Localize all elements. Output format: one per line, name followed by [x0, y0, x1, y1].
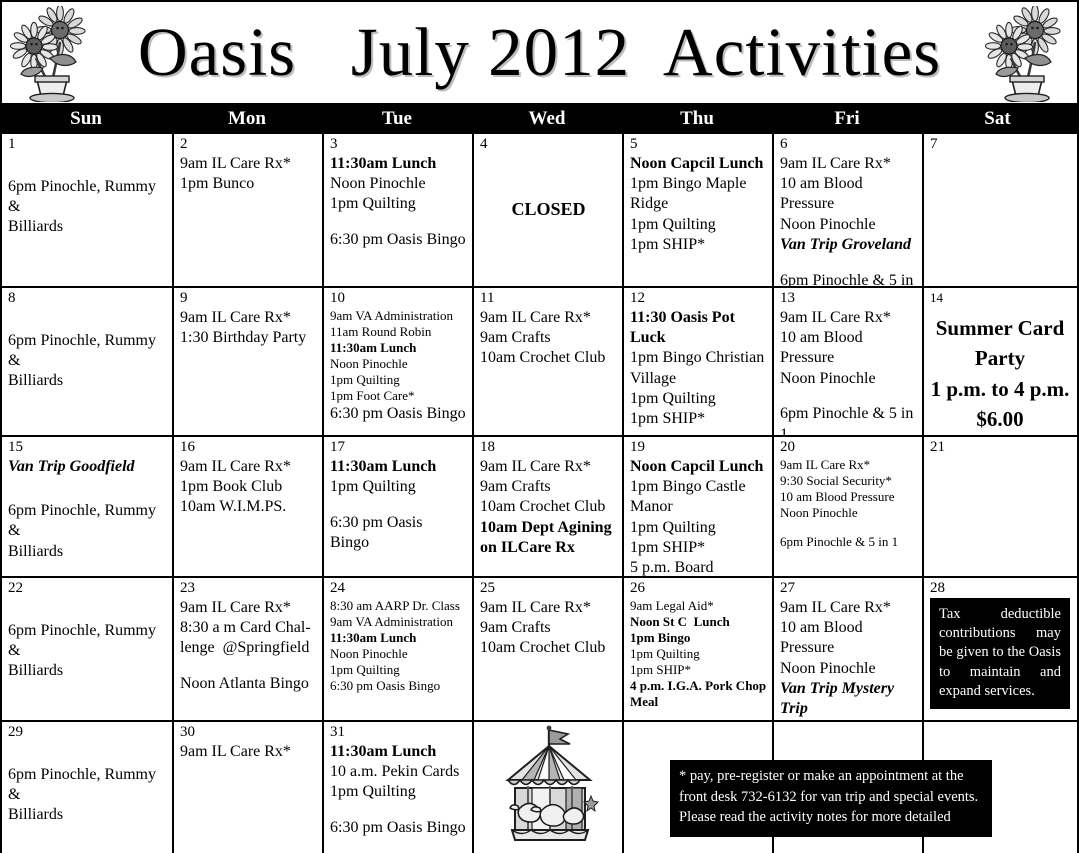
calendar-day-cell-31[interactable]: 3111:30am Lunch10 a.m. Pekin Cards1pm Qu…: [324, 722, 474, 853]
event-item[interactable]: 9am IL Care Rx*: [780, 154, 917, 174]
event-item[interactable]: 9am Crafts: [480, 618, 617, 638]
event-item[interactable]: 6:30 pm Oasis Bingo: [330, 818, 467, 838]
weekday-header-wed: Wed: [472, 103, 622, 134]
event-item[interactable]: 11:30am Lunch: [330, 154, 467, 174]
day-events-list: 9am IL Care Rx*10 am Blood PressureNoon …: [780, 154, 917, 286]
day-number: 8: [8, 291, 167, 307]
day-events-list: 6pm Pinochle, Rummy &Billiards: [8, 621, 167, 682]
day-number: 9: [180, 291, 317, 307]
calendar-day-cell-5[interactable]: 5Noon Capcil Lunch1pm Bingo MapleRidge1p…: [624, 134, 774, 286]
event-item[interactable]: Noon St C Lunch: [630, 614, 767, 630]
weekday-header-sat: Sat: [922, 103, 1073, 134]
event-item[interactable]: 9am IL Care Rx*: [480, 457, 617, 477]
event-item[interactable]: Meal: [630, 694, 767, 710]
calendar-day-cell-19[interactable]: 19Noon Capcil Lunch1pm Bingo CastleManor…: [624, 437, 774, 576]
event-item[interactable]: 6pm Pinochle & 5 in 1: [780, 534, 917, 550]
day-number: 29: [8, 725, 167, 741]
day-number: 24: [330, 581, 467, 597]
event-item[interactable]: 9am IL Care Rx*: [180, 457, 317, 477]
calendar-day-cell-11[interactable]: 119am IL Care Rx*9am Crafts10am Crochet …: [474, 288, 624, 435]
event-item[interactable]: 5 p.m. Board Meeting: [630, 558, 767, 576]
weekday-header-thu: Thu: [622, 103, 772, 134]
event-item[interactable]: Van Trip Mystery Trip: [780, 679, 917, 720]
event-item[interactable]: 11:30am Lunch: [330, 340, 467, 356]
day-number: 30: [180, 725, 317, 741]
day-number: 18: [480, 440, 617, 456]
event-item[interactable]: 6pm Pinochle & 5 in 1: [780, 271, 917, 287]
weekday-header-mon: Mon: [172, 103, 322, 134]
event-item[interactable]: 9am IL Care Rx*: [480, 598, 617, 618]
event-item[interactable]: 1pm Bingo: [630, 630, 767, 646]
day-events-list: 6pm Pinochle, Rummy &Billiards: [8, 331, 167, 392]
event-item[interactable]: 1pm SHIP*: [630, 538, 767, 558]
event-item[interactable]: Manor: [630, 497, 767, 517]
event-item[interactable]: Noon Pinochle: [780, 369, 917, 389]
calendar-day-cell-13[interactable]: 139am IL Care Rx*10 am Blood PressureNoo…: [774, 288, 924, 435]
weekday-header-row: SunMonTueWedThuFriSat: [0, 103, 1079, 134]
day-events-list: 9am IL Care Rx*1pm Bunco: [180, 154, 317, 195]
event-item[interactable]: Noon Pinochle: [780, 215, 917, 235]
event-item[interactable]: Noon Pinochle: [330, 356, 467, 372]
closed-label: CLOSED: [480, 199, 617, 220]
event-item[interactable]: 9am Crafts: [480, 328, 617, 348]
event-item[interactable]: 8:30 a m Card Chal-: [180, 618, 317, 638]
event-item[interactable]: 9am IL Care Rx*: [780, 598, 917, 618]
event-item[interactable]: Noon Pinochle: [330, 174, 467, 194]
event-item[interactable]: Van Trip Goodfield: [8, 457, 167, 477]
calendar-week-row: 16pm Pinochle, Rummy &Billiards29am IL C…: [2, 134, 1077, 288]
event-item[interactable]: 1pm Quilting: [330, 372, 467, 388]
calendar-day-cell-17[interactable]: 1711:30am Lunch1pm Quilting6:30 pm Oasis…: [324, 437, 474, 576]
event-item[interactable]: on ILCare Rx: [480, 538, 617, 558]
event-item[interactable]: 9am IL Care Rx*: [180, 742, 317, 762]
calendar-day-cell-12[interactable]: 1211:30 Oasis Pot Luck1pm Bingo Christia…: [624, 288, 774, 435]
event-item[interactable]: 1pm SHIP*: [630, 662, 767, 678]
calendar-day-cell-4[interactable]: 4CLOSED: [474, 134, 624, 286]
event-item[interactable]: 6pm Pinochle, Rummy &: [8, 331, 167, 372]
calendar-day-cell-23[interactable]: 239am IL Care Rx*8:30 a m Card Chal-leng…: [174, 578, 324, 720]
calendar-week-row: 15Van Trip Goodfield6pm Pinochle, Rummy …: [2, 437, 1077, 578]
weekday-header-sun: Sun: [0, 103, 172, 134]
event-item[interactable]: 6pm Pinochle, Rummy &: [8, 177, 167, 218]
event-item[interactable]: 1pm Quilting: [630, 389, 767, 409]
event-item[interactable]: 4 p.m. I.G.A. Pork Chop: [630, 678, 767, 694]
footnote-line-1: * pay, pre-register or make an appointme…: [679, 766, 983, 787]
day-events-list: 11:30am Lunch10 a.m. Pekin Cards1pm Quil…: [330, 742, 467, 838]
calendar-day-cell-28[interactable]: 28Tax deductible contributions may be gi…: [924, 578, 1075, 720]
event-item[interactable]: 6:30 pm Oasis Bingo: [330, 678, 467, 694]
calendar-day-cell-22[interactable]: 226pm Pinochle, Rummy &Billiards: [2, 578, 174, 720]
event-item[interactable]: 10am Crochet Club: [480, 638, 617, 658]
day-events-list: 9am Legal Aid*Noon St C Lunch1pm Bingo1p…: [630, 598, 767, 711]
day-number: 23: [180, 581, 317, 597]
day-number: 6: [780, 137, 917, 153]
day-events-list: 11:30 Oasis Pot Luck1pm Bingo ChristianV…: [630, 308, 767, 430]
event-item[interactable]: 1pm Quilting: [330, 782, 467, 802]
day-events-list: 6pm Pinochle, Rummy &Billiards: [8, 765, 167, 826]
calendar-day-cell-21[interactable]: 21: [924, 437, 1075, 576]
event-item[interactable]: Noon Capcil Lunch: [630, 457, 767, 477]
day-number: 26: [630, 581, 767, 597]
event-item[interactable]: 10am Crochet Club: [480, 348, 617, 368]
event-item[interactable]: 1pm Bingo Christian: [630, 348, 767, 368]
calendar-title-banner: Oasis July 2012 Activities: [0, 0, 1079, 103]
day-number: 1: [8, 137, 167, 153]
calendar-day-cell-empty[interactable]: [474, 722, 624, 853]
calendar-day-cell-18[interactable]: 189am IL Care Rx*9am Crafts10am Crochet …: [474, 437, 624, 576]
event-item[interactable]: 1pm Quilting: [630, 518, 767, 538]
event-item[interactable]: 10am Crochet Club: [480, 497, 617, 517]
special-event-line: $6.00: [930, 404, 1070, 434]
event-item[interactable]: Billiards: [8, 371, 167, 391]
day-events-list: 9am IL Care Rx*1:30 Birthday Party: [180, 308, 317, 349]
day-number: 15: [8, 440, 167, 456]
event-item[interactable]: Noon Capcil Lunch: [630, 154, 767, 174]
event-item[interactable]: 6:30 pm Oasis Bingo: [330, 230, 467, 250]
event-item[interactable]: Van Trip Groveland: [780, 235, 917, 255]
event-item[interactable]: 6pm Pinochle & 5 in 1: [780, 404, 917, 435]
day-events-list: 11:30am Lunch1pm Quilting6:30 pm OasisBi…: [330, 457, 467, 553]
special-event-line: 1 p.m. to 4 p.m.: [930, 374, 1070, 404]
event-item[interactable]: Billiards: [8, 805, 167, 825]
day-events-list: 9am IL Care Rx*9:30 Social Security*10 a…: [780, 457, 917, 550]
event-item[interactable]: 9am IL Care Rx*: [180, 598, 317, 618]
day-number: 11: [480, 291, 617, 307]
day-events-list: 8:30 am AARP Dr. Class9am VA Administrat…: [330, 598, 467, 695]
calendar-day-cell-7[interactable]: 7: [924, 134, 1075, 286]
day-events-list: 11:30am LunchNoon Pinochle1pm Quilting6:…: [330, 154, 467, 250]
event-item[interactable]: 1pm Bunco: [180, 174, 317, 194]
day-number: 3: [330, 137, 467, 153]
event-item[interactable]: 1:30 Birthday Party: [180, 328, 317, 348]
day-events-list: 6pm Pinochle, Rummy &Billiards: [8, 177, 167, 238]
calendar-day-cell-2[interactable]: 29am IL Care Rx*1pm Bunco: [174, 134, 324, 286]
calendar-day-cell-15[interactable]: 15Van Trip Goodfield6pm Pinochle, Rummy …: [2, 437, 174, 576]
event-item[interactable]: 11:30am Lunch: [330, 457, 467, 477]
event-item[interactable]: 1pm Quilting: [630, 646, 767, 662]
event-item[interactable]: Noon Pinochle: [330, 646, 467, 662]
day-number: 22: [8, 581, 167, 597]
calendar-week-row: 226pm Pinochle, Rummy &Billiards239am IL…: [2, 578, 1077, 722]
day-number: 12: [630, 291, 767, 307]
day-events-list: 9am VA Administration11am Round Robin11:…: [330, 308, 467, 425]
weekday-header-tue: Tue: [322, 103, 472, 134]
event-item[interactable]: Noon Pinochle: [780, 659, 917, 679]
calendar-page: Oasis July 2012 Activities: [0, 0, 1079, 853]
event-item[interactable]: 11am Round Robin: [330, 324, 467, 340]
day-number: 25: [480, 581, 617, 597]
event-item[interactable]: 1pm Quilting: [330, 194, 467, 214]
event-item[interactable]: 9am Crafts: [480, 477, 617, 497]
calendar-week-row: 86pm Pinochle, Rummy &Billiards99am IL C…: [2, 288, 1077, 437]
event-item[interactable]: 9am VA Administration: [330, 308, 467, 324]
day-events-list: Noon Capcil Lunch1pm Bingo CastleManor1p…: [630, 457, 767, 576]
event-item[interactable]: Noon Atlanta Bingo: [180, 674, 317, 694]
day-number: 19: [630, 440, 767, 456]
event-item[interactable]: Bingo: [330, 533, 467, 553]
day-events-list: 9am IL Care Rx*10 am Blood PressureNoon …: [780, 308, 917, 435]
day-number: 13: [780, 291, 917, 307]
day-number: 31: [330, 725, 467, 741]
day-number: 16: [180, 440, 317, 456]
calendar-day-cell-16[interactable]: 169am IL Care Rx*1pm Book Club10am W.I.M…: [174, 437, 324, 576]
event-item[interactable]: Village: [630, 369, 767, 389]
event-item[interactable]: 1pm SHIP*: [630, 409, 767, 429]
event-item[interactable]: 1pm Quilting: [630, 215, 767, 235]
sunflower-icon: [985, 6, 1069, 102]
calendar-day-cell-30[interactable]: 309am IL Care Rx*: [174, 722, 324, 853]
event-item[interactable]: 11:30am Lunch: [330, 742, 467, 762]
day-number: 20: [780, 440, 917, 456]
calendar-grid: 16pm Pinochle, Rummy &Billiards29am IL C…: [0, 134, 1079, 853]
calendar-day-cell-6[interactable]: 69am IL Care Rx*10 am Blood PressureNoon…: [774, 134, 924, 286]
event-item[interactable]: 9am Legal Aid*: [630, 598, 767, 614]
day-events-list: 9am IL Care Rx*9am Crafts10am Crochet Cl…: [480, 598, 617, 659]
day-number: 4: [480, 137, 617, 153]
event-item[interactable]: 9am IL Care Rx*: [480, 308, 617, 328]
day-number: 5: [630, 137, 767, 153]
calendar-day-cell-9[interactable]: 99am IL Care Rx*1:30 Birthday Party: [174, 288, 324, 435]
event-item[interactable]: 6pm Pinochle, Rummy &: [8, 765, 167, 806]
calendar-day-cell-10[interactable]: 109am VA Administration11am Round Robin1…: [324, 288, 474, 435]
event-item[interactable]: 10 a.m. Pekin Cards: [330, 762, 467, 782]
page-title: Oasis July 2012 Activities: [138, 18, 941, 87]
special-event-block: Summer CardParty1 p.m. to 4 p.m.$6.00: [930, 313, 1070, 435]
calendar-day-cell-26[interactable]: 269am Legal Aid*Noon St C Lunch1pm Bingo…: [624, 578, 774, 720]
day-events-list: 9am IL Care Rx*10 am Blood PressureNoon …: [780, 598, 917, 720]
event-item[interactable]: 1pm Quilting: [330, 477, 467, 497]
event-item[interactable]: 1pm Bingo Maple: [630, 174, 767, 194]
event-item[interactable]: 1pm Bingo Castle: [630, 477, 767, 497]
event-item[interactable]: 11:30 Oasis Pot Luck: [630, 308, 767, 349]
calendar-day-cell-8[interactable]: 86pm Pinochle, Rummy &Billiards: [2, 288, 174, 435]
event-item[interactable]: 10 am Blood Pressure: [780, 618, 917, 659]
day-events-list: Noon Capcil Lunch1pm Bingo MapleRidge1pm…: [630, 154, 767, 256]
tax-deductible-note-box: Tax deductible contributions may be give…: [930, 598, 1070, 709]
day-events-list: 9am IL Care Rx*: [180, 742, 317, 762]
event-item[interactable]: 9am IL Care Rx*: [180, 154, 317, 174]
weekday-header-fri: Fri: [772, 103, 922, 134]
event-item[interactable]: 9am IL Care Rx*: [780, 308, 917, 328]
event-item[interactable]: 1pm Quilting: [330, 662, 467, 678]
day-number: 21: [930, 440, 1070, 456]
day-number: 2: [180, 137, 317, 153]
event-item[interactable]: 11:30am Lunch: [330, 630, 467, 646]
day-number: 14: [930, 291, 1070, 305]
day-events-list: 9am IL Care Rx*8:30 a m Card Chal-lenge …: [180, 598, 317, 694]
calendar-day-cell-3[interactable]: 311:30am LunchNoon Pinochle1pm Quilting6…: [324, 134, 474, 286]
sunflower-icon: [10, 6, 94, 102]
event-item[interactable]: 1pm Book Club: [180, 477, 317, 497]
footnote-line-2: front desk 732-6132 for van trip and spe…: [679, 787, 983, 808]
event-item[interactable]: Ridge: [630, 194, 767, 214]
calendar-day-cell-20[interactable]: 209am IL Care Rx*9:30 Social Security*10…: [774, 437, 924, 576]
event-item[interactable]: 9am IL Care Rx*: [180, 308, 317, 328]
day-number: 10: [330, 291, 467, 307]
day-events-list: Van Trip Goodfield6pm Pinochle, Rummy &B…: [8, 457, 167, 562]
day-events-list: 9am IL Care Rx*9am Crafts10am Crochet Cl…: [480, 457, 617, 559]
carousel-icon: [490, 724, 610, 842]
calendar-day-cell-1[interactable]: 16pm Pinochle, Rummy &Billiards: [2, 134, 174, 286]
event-item[interactable]: 6pm Pinochle, Rummy &: [8, 621, 167, 662]
event-item[interactable]: 10 am Blood Pressure: [780, 174, 917, 215]
event-item[interactable]: 1pm SHIP*: [630, 235, 767, 255]
event-item[interactable]: 1pm Foot Care*: [330, 388, 467, 404]
calendar-day-cell-25[interactable]: 259am IL Care Rx*9am Crafts10am Crochet …: [474, 578, 624, 720]
event-item[interactable]: lenge @Springfield: [180, 638, 317, 658]
event-item[interactable]: 10 am Blood Pressure: [780, 328, 917, 369]
event-item[interactable]: 9:30 Social Security*: [780, 473, 917, 489]
event-item[interactable]: 10 am Blood Pressure: [780, 489, 917, 505]
calendar-day-cell-29[interactable]: 296pm Pinochle, Rummy &Billiards: [2, 722, 174, 853]
special-event-line: Summer Card: [930, 313, 1070, 343]
event-item[interactable]: 9am VA Administration: [330, 614, 467, 630]
event-item[interactable]: Noon Pinochle: [780, 505, 917, 521]
event-item[interactable]: Billiards: [8, 542, 167, 562]
event-item[interactable]: Billiards: [8, 661, 167, 681]
event-item[interactable]: 6pm Pinochle, Rummy &: [8, 501, 167, 542]
event-item[interactable]: 9am IL Care Rx*: [780, 457, 917, 473]
day-events-list: 9am IL Care Rx*9am Crafts10am Crochet Cl…: [480, 308, 617, 369]
special-event-line: Party: [930, 343, 1070, 373]
event-item[interactable]: 6:30 pm Oasis Bingo: [330, 404, 467, 424]
event-item[interactable]: 6:30 pm Oasis: [330, 513, 467, 533]
day-events-list: 9am IL Care Rx*1pm Book Club10am W.I.M.P…: [180, 457, 317, 518]
calendar-day-cell-24[interactable]: 248:30 am AARP Dr. Class9am VA Administr…: [324, 578, 474, 720]
day-number: 17: [330, 440, 467, 456]
day-number: 27: [780, 581, 917, 597]
footnote-note-box: * pay, pre-register or make an appointme…: [670, 760, 992, 837]
event-item[interactable]: 10am Dept Agining: [480, 518, 617, 538]
day-number: 7: [930, 137, 1070, 153]
event-item[interactable]: 8:30 am AARP Dr. Class: [330, 598, 467, 614]
event-item[interactable]: Billiards: [8, 217, 167, 237]
calendar-day-cell-14[interactable]: 14Summer CardParty1 p.m. to 4 p.m.$6.00: [924, 288, 1075, 435]
day-number: 28: [930, 581, 1070, 597]
footnote-line-3: Please read the activity notes for more …: [679, 807, 983, 828]
event-item[interactable]: 10am W.I.M.PS.: [180, 497, 317, 517]
calendar-day-cell-27[interactable]: 279am IL Care Rx*10 am Blood PressureNoo…: [774, 578, 924, 720]
